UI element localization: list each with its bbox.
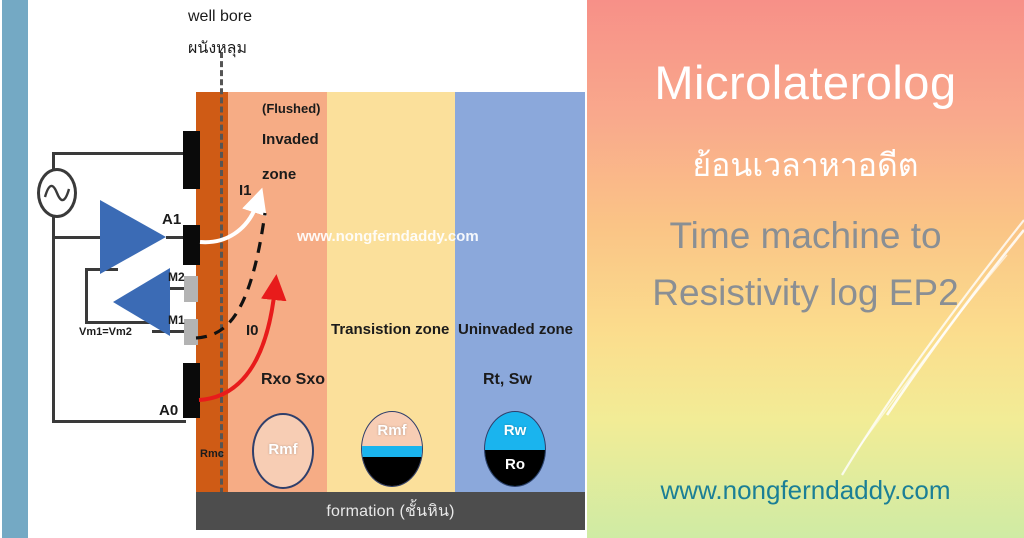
formation-label: formation (ชั้นหิน) — [326, 499, 454, 524]
wire-bottom-to-a0 — [52, 420, 186, 423]
left-accent-bar — [2, 0, 28, 538]
wire-source-bottom-vertical — [52, 208, 55, 423]
electrode-a0 — [183, 363, 200, 418]
invaded-fluid-label: Rmf — [254, 441, 312, 458]
sine-wave-icon — [42, 181, 72, 205]
wellbore-label-en: well bore — [188, 8, 252, 26]
diagram-watermark: www.nongferndaddy.com — [297, 228, 479, 245]
wire-amp1-feedback-vertical — [85, 268, 88, 324]
slide-canvas: formation (ชั้นหิน) — [0, 0, 1024, 538]
invaded-properties-label: Rxo Sxo — [261, 371, 325, 389]
transition-fluid-label: Rmf — [362, 422, 422, 439]
current-i1-label: I1 — [239, 182, 252, 199]
mudcake-zone — [196, 92, 228, 492]
current-i0-label: I0 — [246, 322, 259, 339]
wellbore-label-th: ผนังหลุม — [188, 36, 247, 61]
zone-label: zone — [262, 166, 296, 183]
website-url[interactable]: www.nongferndaddy.com — [587, 475, 1024, 506]
voltage-equation-label: Vm1=Vm2 — [79, 326, 132, 338]
electrode-a1 — [183, 225, 200, 265]
uninvaded-fluid-ellipse: Rw Ro — [484, 411, 546, 487]
invaded-fluid-ellipse: Rmf — [252, 413, 314, 489]
electrode-m1-label: M1 — [168, 313, 185, 327]
electrode-a1-label: A1 — [162, 211, 181, 228]
amplifier-1 — [100, 200, 166, 274]
oil-label: Ro — [485, 456, 545, 473]
wire-source-to-amp1 — [52, 236, 104, 239]
uninvaded-zone-label: Uninvaded zone — [458, 321, 573, 338]
invaded-label: Invaded — [262, 131, 319, 148]
transition-fluid-ellipse: Rmf — [361, 411, 423, 487]
electrode-m1 — [184, 319, 198, 345]
flushed-label: (Flushed) — [262, 101, 321, 116]
subtitle-line-1: Time machine to — [587, 215, 1024, 257]
subtitle-line-2: Resistivity log EP2 — [587, 272, 1024, 314]
formation-water-label: Rw — [485, 422, 545, 439]
uninvaded-properties-label: Rt, Sw — [483, 371, 532, 389]
ac-source-symbol — [37, 168, 77, 218]
electrode-a0-label: A0 — [159, 402, 178, 419]
formation-bar: formation (ชั้นหิน) — [196, 492, 585, 530]
water-band — [362, 446, 422, 457]
page-title: Microlaterolog — [587, 55, 1024, 110]
electrode-m2 — [184, 276, 198, 302]
resistivity-invasion-diagram: formation (ชั้นหิน) — [0, 0, 587, 538]
oil-band — [362, 457, 422, 487]
mudcake-label: Rmc — [200, 448, 224, 460]
page-title-thai: ย้อนเวลาหาอดีต — [587, 140, 1024, 191]
title-panel: Microlaterolog ย้อนเวลาหาอดีต Time machi… — [587, 0, 1024, 538]
electrode-m2-label: M2 — [168, 270, 185, 284]
electrode-top — [183, 131, 200, 189]
wire-top-to-electrode — [52, 152, 186, 155]
transition-zone-label: Transistion zone — [331, 321, 449, 338]
